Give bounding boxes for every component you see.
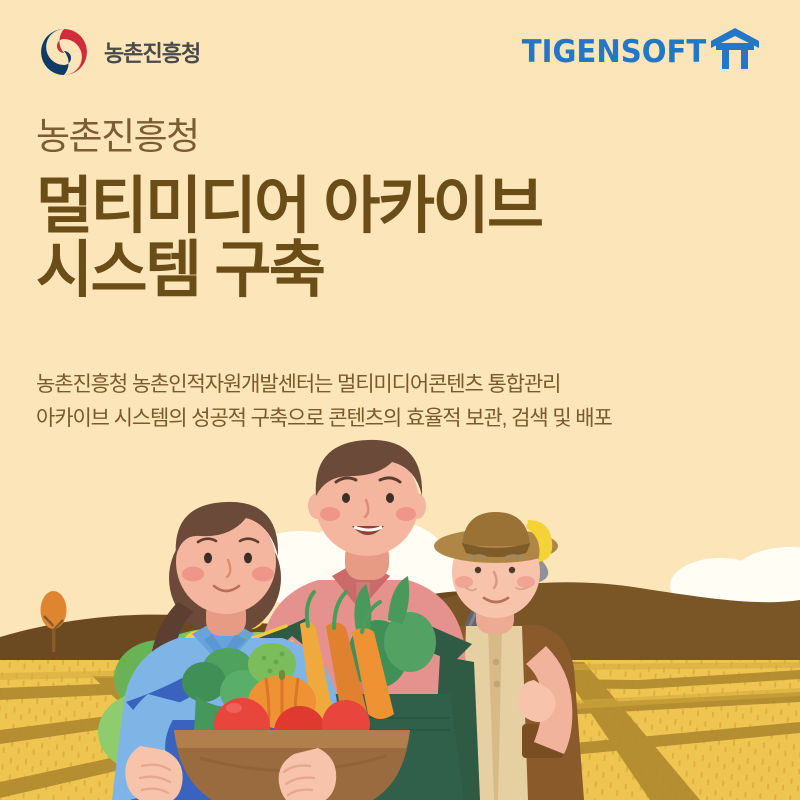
farm-scene-svg bbox=[0, 430, 800, 800]
government-name: 농촌진흥청 bbox=[104, 36, 200, 68]
title-line-1: 멀티미디어 아카이브 bbox=[36, 175, 756, 239]
eyebrow-label: 농촌진흥청 bbox=[36, 118, 199, 155]
page-title: 멀티미디어 아카이브 시스템 구축 bbox=[36, 175, 756, 304]
korea-government-taegeuk-emblem bbox=[36, 24, 92, 80]
brand-name: TIGENSOFT bbox=[522, 37, 706, 68]
government-logo: 농촌진흥청 bbox=[36, 24, 200, 80]
tigensoft-tt-arrow-mark bbox=[710, 26, 760, 70]
title-line-2: 시스템 구축 bbox=[36, 239, 756, 303]
promo-card: 농촌진흥청 TIGENSOFT 농촌진흥청 멀티미디어 아카이브 시스템 구축 … bbox=[0, 0, 800, 800]
header: 농촌진흥청 TIGENSOFT bbox=[0, 0, 800, 100]
farm-illustration bbox=[0, 430, 800, 800]
description-line-1: 농촌진흥청 농촌인적자원개발센터는 멀티미디어콘텐츠 통합관리 bbox=[36, 368, 776, 402]
tigensoft-logo: TIGENSOFT bbox=[510, 26, 760, 68]
basket-rim bbox=[174, 730, 410, 748]
